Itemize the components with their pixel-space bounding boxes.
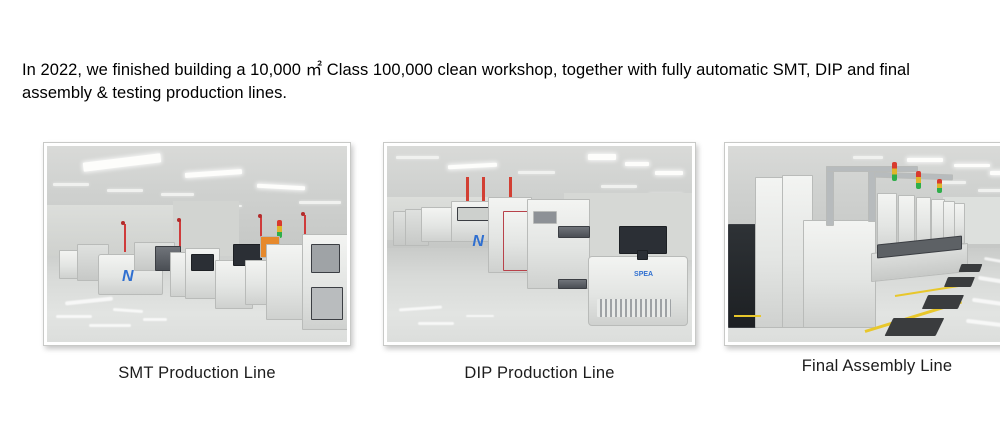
figure-smt-production-line: N SMT Production Line bbox=[43, 142, 351, 346]
anti-fatigue-mat bbox=[885, 318, 944, 336]
spea-brand-label: SPEA bbox=[634, 271, 653, 278]
cabinet-vent bbox=[558, 279, 587, 289]
caption-final-assembly-line: Final Assembly Line bbox=[724, 357, 1000, 376]
figure-final-assembly-line: Final Assembly Line bbox=[724, 142, 1000, 346]
photo-frame-final-assembly[interactable] bbox=[724, 142, 1000, 346]
ceiling-lamp bbox=[588, 154, 615, 160]
ceiling-lamp bbox=[853, 156, 883, 159]
monitor-stand bbox=[637, 250, 648, 260]
oven-brand-logo: N bbox=[122, 269, 134, 285]
ceiling-lamp bbox=[655, 171, 682, 175]
cabinet-window bbox=[311, 244, 340, 273]
photo-dip-production-line: N SPEA bbox=[387, 146, 692, 342]
ceiling-lamp bbox=[601, 185, 638, 188]
tower-light bbox=[892, 162, 897, 182]
photo-smt-production-line: N bbox=[47, 146, 347, 342]
photo-frame-smt[interactable]: N bbox=[43, 142, 351, 346]
ceiling-lamp bbox=[907, 158, 943, 162]
machine-brand-logo: N bbox=[472, 234, 484, 250]
signal-pole-cap bbox=[177, 218, 181, 222]
photo-frame-dip[interactable]: N SPEA bbox=[383, 142, 696, 346]
tower-light bbox=[916, 171, 921, 189]
floor-reflection bbox=[56, 315, 92, 318]
ceiling-lamp bbox=[978, 189, 1000, 192]
ceiling-lamp bbox=[299, 201, 341, 204]
signal-pole-cap bbox=[258, 214, 262, 218]
signal-pole bbox=[124, 224, 126, 251]
hmi-panel bbox=[533, 211, 556, 225]
cabinet-window bbox=[311, 287, 343, 320]
equipment-cabinet bbox=[803, 220, 877, 328]
ceiling-lamp bbox=[107, 189, 143, 192]
control-cabinet bbox=[266, 244, 307, 320]
tester-vent-grille bbox=[597, 299, 670, 317]
ceiling-lamp bbox=[518, 171, 555, 174]
photo-final-assembly-line bbox=[728, 146, 1000, 342]
machine-door bbox=[503, 211, 529, 272]
caption-dip-production-line: DIP Production Line bbox=[383, 364, 696, 383]
caption-smt-production-line: SMT Production Line bbox=[43, 364, 351, 383]
floor-reflection bbox=[466, 315, 493, 317]
tower-light bbox=[937, 179, 942, 193]
intro-paragraph: In 2022, we finished building a 10,000 ㎡… bbox=[22, 59, 974, 106]
anti-fatigue-mat bbox=[944, 277, 975, 287]
floor-marking bbox=[734, 315, 761, 317]
anti-fatigue-mat bbox=[922, 295, 964, 309]
ceiling-lamp bbox=[161, 193, 194, 196]
figure-dip-production-line: N SPEA DIP Production Line bbox=[383, 142, 696, 346]
cabinet-vent bbox=[558, 226, 591, 238]
ceiling-lamp bbox=[990, 171, 1000, 174]
ceiling-lamp bbox=[396, 156, 439, 160]
ceiling-lamp bbox=[954, 164, 990, 168]
photo-gallery: N SMT Production Line bbox=[0, 126, 1000, 386]
floor-reflection bbox=[418, 322, 455, 325]
frame-beam bbox=[826, 166, 917, 173]
ceiling-lamp bbox=[625, 162, 649, 167]
frame-column bbox=[826, 166, 834, 227]
anti-fatigue-mat bbox=[959, 264, 983, 272]
floor-reflection bbox=[143, 318, 167, 320]
station-monitor bbox=[191, 254, 214, 272]
floor-reflection bbox=[89, 324, 131, 327]
ceiling-lamp bbox=[53, 183, 89, 186]
